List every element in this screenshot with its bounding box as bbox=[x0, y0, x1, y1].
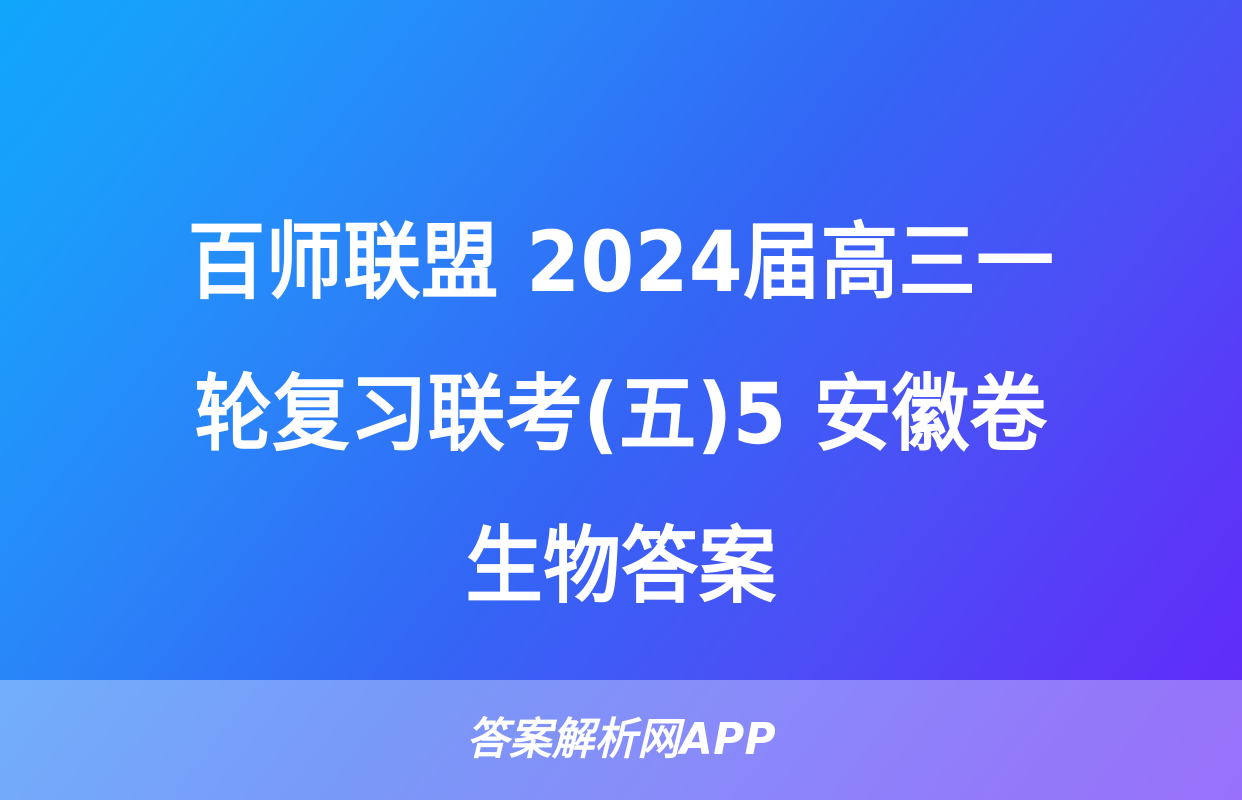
page-title: 百师联盟 2024届高三一 轮复习联考(五)5 安徽卷 生物答案 bbox=[0, 186, 1242, 642]
title-line-3: 生物答案 bbox=[83, 490, 1159, 642]
poster-container: 百师联盟 2024届高三一 轮复习联考(五)5 安徽卷 生物答案 答案解析网AP… bbox=[0, 0, 1242, 800]
app-brand-label: 答案解析网APP bbox=[466, 718, 776, 762]
footer-banner: 答案解析网APP bbox=[0, 680, 1242, 800]
title-line-1: 百师联盟 2024届高三一 bbox=[83, 186, 1159, 338]
title-line-2: 轮复习联考(五)5 安徽卷 bbox=[83, 338, 1159, 490]
